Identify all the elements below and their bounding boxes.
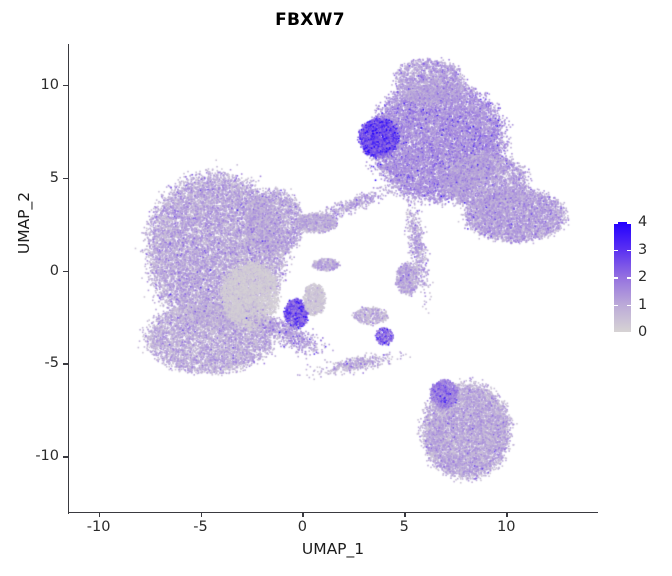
umap-figure: FBXW7 -10-50510 -10-50510 UMAP_1 UMAP_2 … (0, 0, 672, 576)
colorbar-tick-mark (614, 305, 618, 307)
y-tick-mark (63, 456, 68, 457)
y-tick-label: 0 (50, 263, 59, 279)
scatter-plot-canvas (0, 0, 672, 576)
x-axis-line (68, 512, 598, 513)
x-tick-mark (506, 512, 507, 517)
y-tick-mark (63, 85, 68, 86)
x-tick-mark (99, 512, 100, 517)
x-tick-label: 0 (298, 519, 307, 535)
colorbar-tick-mark (614, 277, 618, 279)
colorbar-tick-label: 2 (638, 269, 647, 285)
x-axis-label: UMAP_1 (68, 540, 598, 558)
colorbar-tick-label: 1 (638, 297, 647, 313)
colorbar-tick-label: 4 (638, 214, 647, 230)
plot-area (0, 0, 672, 576)
y-tick-label: -5 (45, 355, 59, 371)
x-tick-label: -10 (87, 519, 111, 535)
y-tick-mark (63, 178, 68, 179)
colorbar-tick-mark (627, 222, 631, 224)
colorbar-legend: 01234 (614, 222, 631, 332)
x-tick-label: -5 (193, 519, 207, 535)
y-axis-line (68, 44, 69, 514)
y-tick-label: 5 (50, 170, 59, 186)
colorbar-tick-label: 0 (638, 324, 647, 340)
colorbar-tick-mark (614, 250, 618, 252)
x-tick-mark (404, 512, 405, 517)
colorbar-tick-mark (627, 305, 631, 307)
y-tick-mark (63, 271, 68, 272)
x-tick-label: 5 (400, 519, 409, 535)
x-tick-label: 10 (497, 519, 515, 535)
y-tick-label: -10 (35, 448, 59, 464)
colorbar-tick-mark (627, 277, 631, 279)
colorbar-gradient (614, 222, 631, 332)
colorbar-tick-mark (627, 250, 631, 252)
colorbar-tick-label: 3 (638, 242, 647, 258)
x-tick-mark (201, 512, 202, 517)
x-tick-mark (302, 512, 303, 517)
colorbar-tick-mark (614, 222, 618, 224)
y-tick-mark (63, 363, 68, 364)
y-tick-label: 10 (41, 77, 59, 93)
y-axis-label: UMAP_2 (15, 113, 33, 333)
